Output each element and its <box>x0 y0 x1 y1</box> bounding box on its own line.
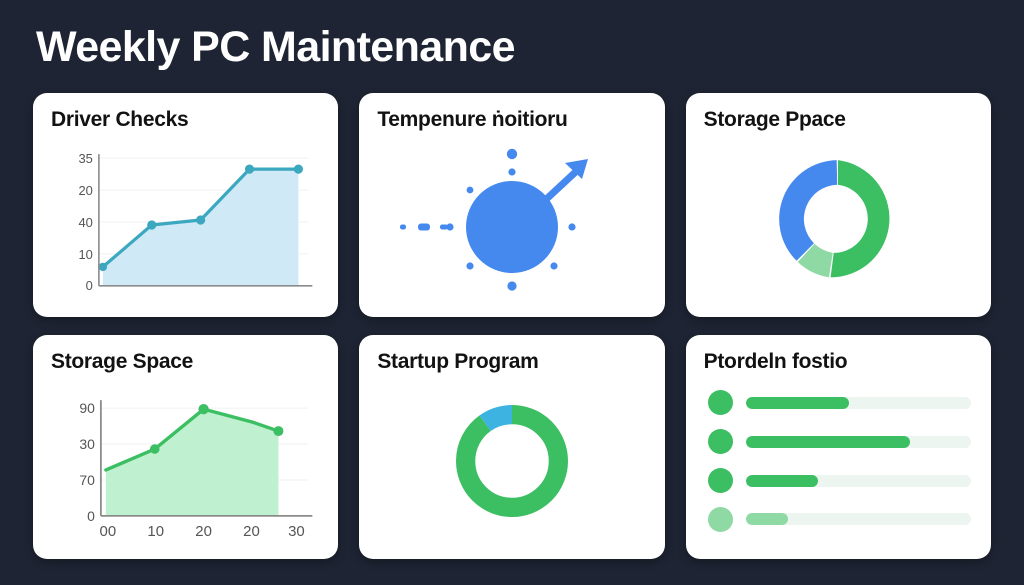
card-problem-status[interactable]: Ptordeln fostio <box>686 335 991 559</box>
chart-startup-program <box>377 377 646 545</box>
card-title-driver-checks: Driver Checks <box>51 108 320 131</box>
svg-text:20: 20 <box>243 523 260 536</box>
progress-list-body <box>704 377 973 545</box>
list-item[interactable] <box>708 507 971 532</box>
svg-text:0: 0 <box>87 508 95 524</box>
svg-text:90: 90 <box>79 400 95 416</box>
sun-arrow-icon <box>382 139 642 299</box>
status-dot-icon <box>708 429 733 454</box>
card-temperature-monitor[interactable]: Tempenure ṅoitioru <box>359 93 664 317</box>
card-grid: Driver Checks <box>33 93 991 559</box>
x-tick-labels: 00 10 20 20 30 <box>100 523 305 536</box>
progress-fill <box>746 397 850 409</box>
area-fill <box>106 409 279 516</box>
progress-track[interactable] <box>746 475 971 487</box>
progress-track[interactable] <box>746 436 971 448</box>
progress-fill <box>746 513 789 525</box>
card-storage-space-area[interactable]: Storage Space <box>33 335 338 559</box>
progress-track[interactable] <box>746 513 971 525</box>
donut-slice-enabled <box>466 415 559 508</box>
sun-disc-icon <box>466 181 558 273</box>
chart-storage-space-area: 90 30 70 0 00 10 20 20 30 <box>51 377 320 545</box>
area-chart-driver-checks: 35 20 40 10 0 0 30 30 40 300 <box>51 144 320 294</box>
status-dot-icon <box>708 468 733 493</box>
svg-text:30: 30 <box>79 436 95 452</box>
svg-text:10: 10 <box>147 523 164 536</box>
progress-track[interactable] <box>746 397 971 409</box>
y-tick-labels: 90 30 70 0 <box>79 400 95 524</box>
card-title-startup-program: Startup Program <box>377 350 646 373</box>
svg-text:40: 40 <box>78 215 92 230</box>
card-storage-space-donut[interactable]: Storage Ppace <box>686 93 991 317</box>
progress-list <box>704 377 973 545</box>
svg-text:00: 00 <box>100 523 117 536</box>
page-title: Weekly PC Maintenance <box>33 26 991 69</box>
y-tick-labels: 35 20 40 10 0 <box>78 151 92 293</box>
donut-slice-free <box>779 160 837 261</box>
card-title-storage-space-donut: Storage Ppace <box>704 108 973 131</box>
list-item[interactable] <box>708 390 971 415</box>
card-title-storage-space-area: Storage Space <box>51 350 320 373</box>
icon-area-temperature <box>377 135 646 303</box>
svg-text:0: 0 <box>86 278 93 293</box>
card-driver-checks[interactable]: Driver Checks <box>33 93 338 317</box>
svg-text:35: 35 <box>78 151 92 166</box>
card-startup-program[interactable]: Startup Program <box>359 335 664 559</box>
progress-fill <box>746 475 818 487</box>
card-title-temperature-monitor: Tempenure ṅoitioru <box>377 108 646 131</box>
svg-text:20: 20 <box>78 183 92 198</box>
status-dot-icon <box>708 390 733 415</box>
list-item[interactable] <box>708 468 971 493</box>
svg-text:10: 10 <box>78 247 92 262</box>
list-item[interactable] <box>708 429 971 454</box>
svg-text:70: 70 <box>79 472 95 488</box>
dashboard-root: Weekly PC Maintenance Driver Checks <box>0 0 1024 585</box>
chart-driver-checks: 35 20 40 10 0 0 30 30 40 300 <box>51 135 320 303</box>
card-title-problem-status: Ptordeln fostio <box>704 350 973 373</box>
area-fill <box>103 169 299 286</box>
chart-storage-space-donut <box>704 135 973 303</box>
donut-chart-startup <box>442 391 582 531</box>
svg-text:20: 20 <box>195 523 212 536</box>
trend-arrow-icon <box>540 159 588 205</box>
sun-ray-dashes-icon <box>400 224 448 231</box>
donut-slice-used <box>831 160 890 277</box>
status-dot-icon <box>708 507 733 532</box>
area-chart-storage-space: 90 30 70 0 00 10 20 20 30 <box>51 386 320 536</box>
donut-chart-storage <box>762 143 914 295</box>
progress-fill <box>746 436 911 448</box>
svg-text:30: 30 <box>288 523 305 536</box>
